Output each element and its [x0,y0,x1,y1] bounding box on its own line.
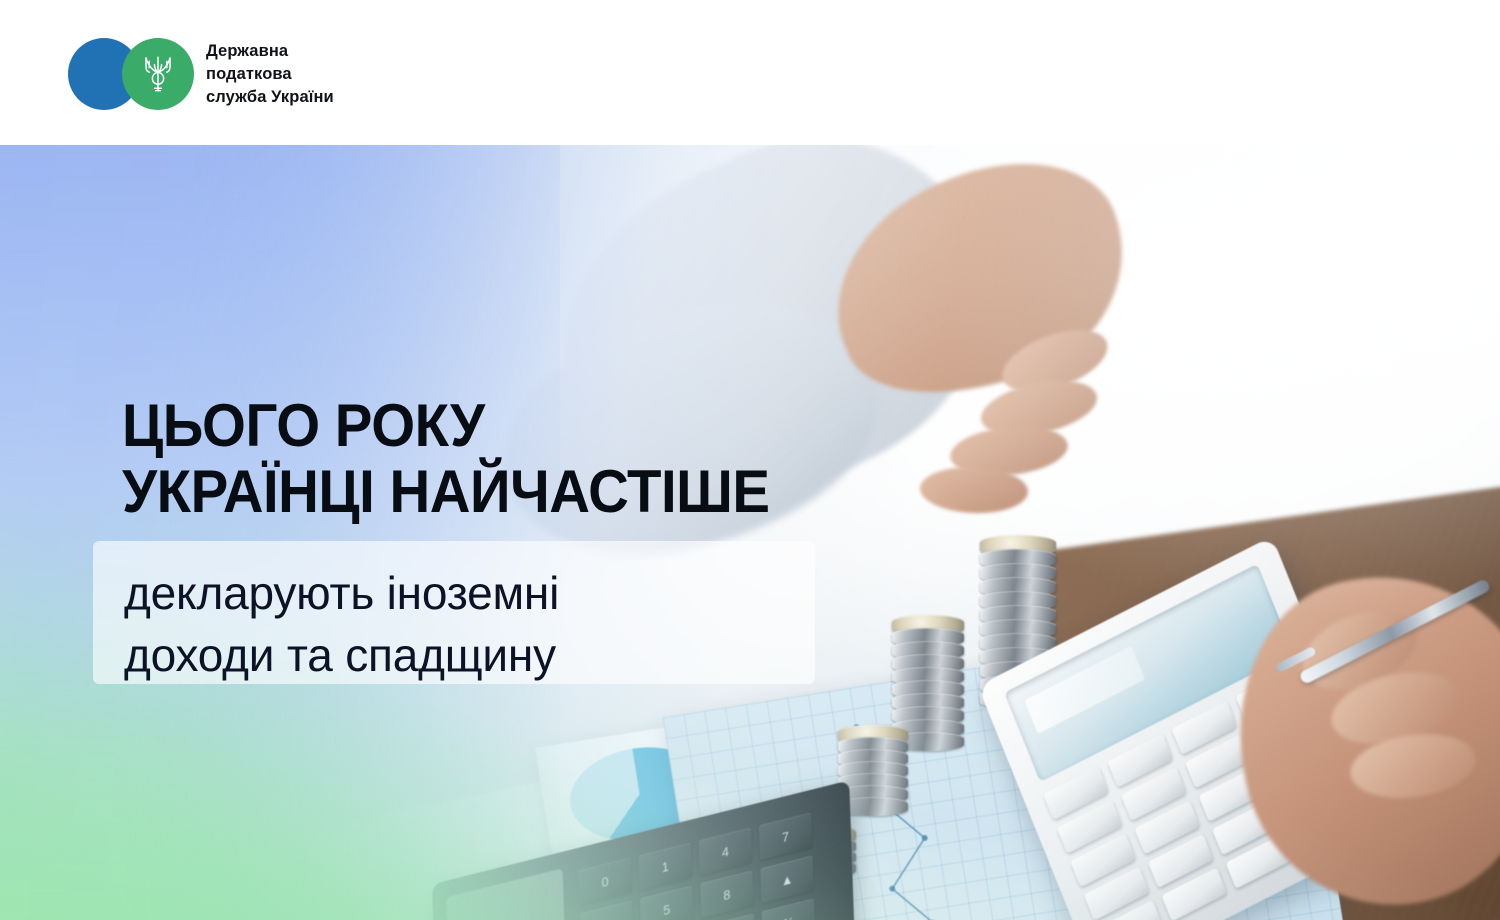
trident-icon [143,55,173,93]
hero-copy: ЦЬОГО РОКУ УКРАЇНЦІ НАЙЧАСТІШЕ декларуют… [0,145,1500,920]
page-subtitle: декларують іноземні доходи та спадщину [124,562,559,686]
page-title: ЦЬОГО РОКУ УКРАЇНЦІ НАЙЧАСТІШЕ [122,393,769,525]
logo-text: Державна податкова служба України [206,40,334,109]
banner-root: Державна податкова служба України [0,0,1500,920]
green-circle-icon [122,38,194,110]
logo-marks [68,38,194,110]
site-header: Державна податкова служба України [0,0,1500,145]
logo-dps-ukraine[interactable]: Державна податкова служба України [68,38,334,110]
